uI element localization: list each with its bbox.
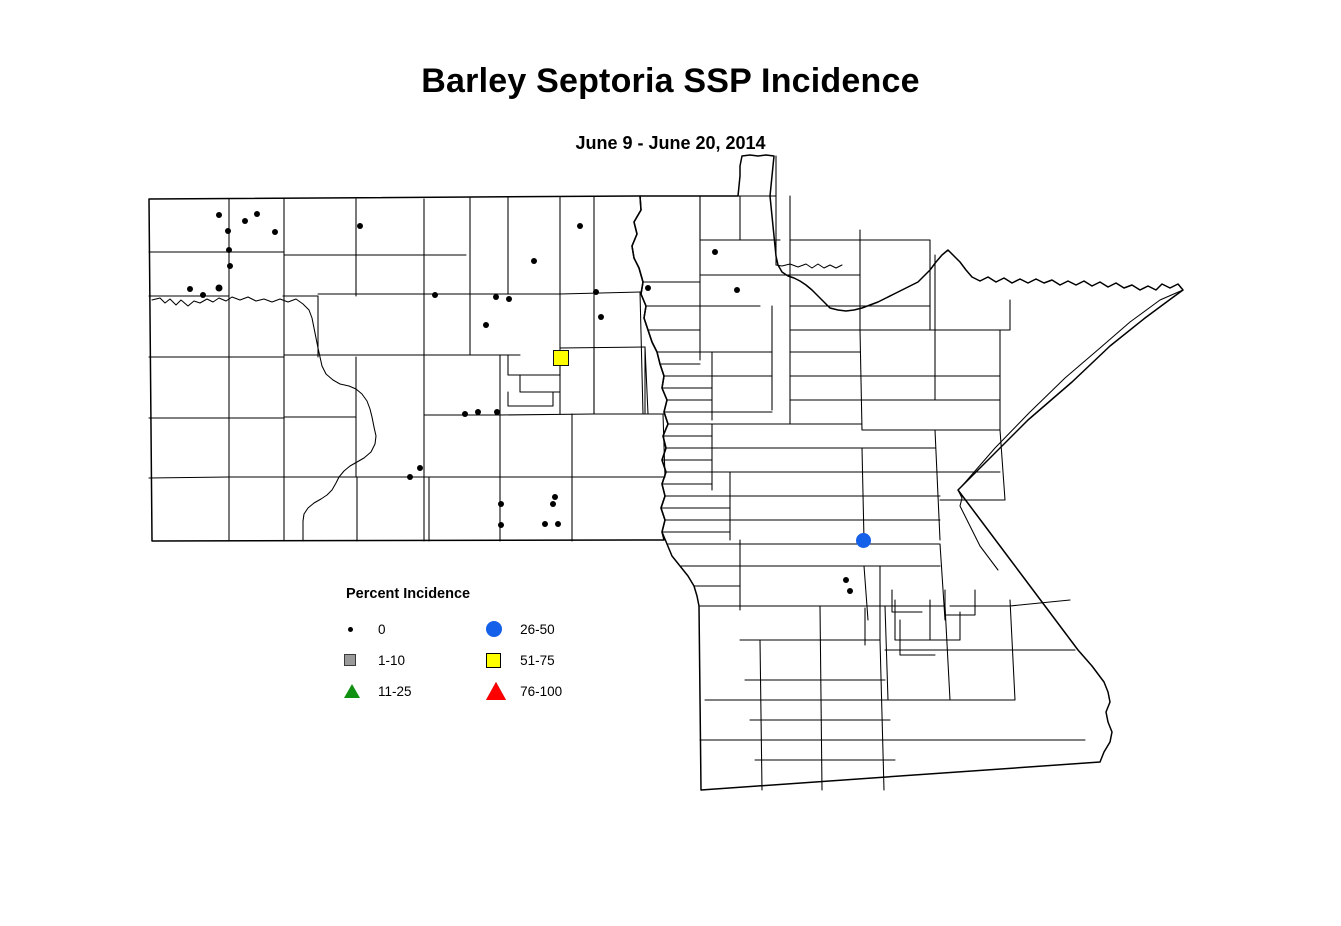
legend-green-triangle-icon bbox=[344, 682, 370, 700]
legend-column-right: 26-50 51-75 76-100 bbox=[486, 620, 594, 700]
legend-item-11-25: 11-25 bbox=[344, 682, 486, 700]
site-dot bbox=[555, 521, 561, 527]
legend-item-1-10: 1-10 bbox=[344, 651, 486, 669]
lake-sakakawea-boundary bbox=[152, 297, 374, 427]
site-dot bbox=[272, 229, 278, 235]
legend-red-triangle-icon bbox=[486, 682, 512, 700]
legend-item-51-75: 51-75 bbox=[486, 651, 594, 669]
site-dot bbox=[462, 411, 468, 417]
site-dot bbox=[843, 577, 849, 583]
site-dot bbox=[254, 211, 260, 217]
site-dot bbox=[550, 501, 556, 507]
site-dot bbox=[242, 218, 248, 224]
site-dot bbox=[498, 501, 504, 507]
missouri-river-south bbox=[303, 427, 376, 541]
marker-26-50-blue-circle bbox=[856, 533, 871, 548]
site-dots-layer bbox=[187, 211, 853, 594]
site-dot bbox=[483, 322, 489, 328]
legend-item-26-50: 26-50 bbox=[486, 620, 594, 638]
legend-label-76-100: 76-100 bbox=[520, 684, 562, 699]
mn-county-lines-east bbox=[790, 430, 1005, 640]
legend-blue-circle-icon bbox=[486, 620, 512, 638]
state-county-map bbox=[0, 0, 1341, 926]
site-dot bbox=[645, 285, 651, 291]
map-canvas bbox=[0, 0, 1341, 926]
site-dot bbox=[432, 292, 438, 298]
site-dot bbox=[542, 521, 548, 527]
site-dot bbox=[200, 292, 206, 298]
north-dakota-group bbox=[149, 196, 668, 541]
site-dot bbox=[598, 314, 604, 320]
site-dot bbox=[225, 228, 231, 234]
site-dot bbox=[216, 212, 222, 218]
legend-label-26-50: 26-50 bbox=[520, 622, 555, 637]
site-dot bbox=[216, 285, 223, 292]
legend-title: Percent Incidence bbox=[346, 586, 594, 602]
nd-county-lines-horizontal bbox=[149, 252, 665, 478]
lake-superior-shoreline bbox=[962, 290, 1183, 486]
site-dot bbox=[493, 294, 499, 300]
site-dot bbox=[417, 465, 423, 471]
north-dakota-outline bbox=[149, 196, 668, 541]
site-dot bbox=[506, 296, 512, 302]
legend-label-1-10: 1-10 bbox=[378, 653, 405, 668]
site-dot bbox=[712, 249, 718, 255]
legend-label-0: 0 bbox=[378, 622, 386, 637]
site-dot bbox=[475, 409, 481, 415]
site-dot bbox=[552, 494, 558, 500]
site-dot bbox=[847, 588, 853, 594]
legend-label-51-75: 51-75 bbox=[520, 653, 555, 668]
site-dot bbox=[357, 223, 363, 229]
nd-county-lines-vertical bbox=[229, 196, 665, 541]
legend-column-left: 0 1-10 11-25 bbox=[344, 620, 486, 700]
site-dot bbox=[593, 289, 599, 295]
legend-dot-icon bbox=[344, 620, 370, 638]
site-dot bbox=[734, 287, 740, 293]
nd-interior-notches bbox=[508, 347, 645, 414]
site-dot bbox=[531, 258, 537, 264]
legend: Percent Incidence 0 1-10 11-25 bbox=[344, 586, 594, 711]
legend-label-11-25: 11-25 bbox=[378, 684, 412, 699]
site-dot bbox=[494, 409, 500, 415]
mississippi-river-border bbox=[958, 490, 998, 570]
legend-gray-square-icon bbox=[344, 651, 370, 669]
map-page: Barley Septoria SSP Incidence June 9 - J… bbox=[0, 0, 1341, 926]
legend-yellow-square-icon bbox=[486, 651, 512, 669]
legend-item-0: 0 bbox=[344, 620, 486, 638]
site-dot bbox=[577, 223, 583, 229]
site-dot bbox=[498, 522, 504, 528]
marker-51-75-yellow-square bbox=[553, 350, 569, 366]
legend-item-76-100: 76-100 bbox=[486, 682, 594, 700]
site-dot bbox=[226, 247, 232, 253]
mn-twin-cities-counties bbox=[865, 590, 975, 655]
site-dot bbox=[187, 286, 193, 292]
site-dot bbox=[407, 474, 413, 480]
site-dot bbox=[227, 263, 233, 269]
mn-county-lines-central bbox=[700, 600, 1085, 790]
mn-county-lines-north bbox=[790, 196, 1010, 430]
mn-county-lines-nw bbox=[643, 156, 810, 610]
